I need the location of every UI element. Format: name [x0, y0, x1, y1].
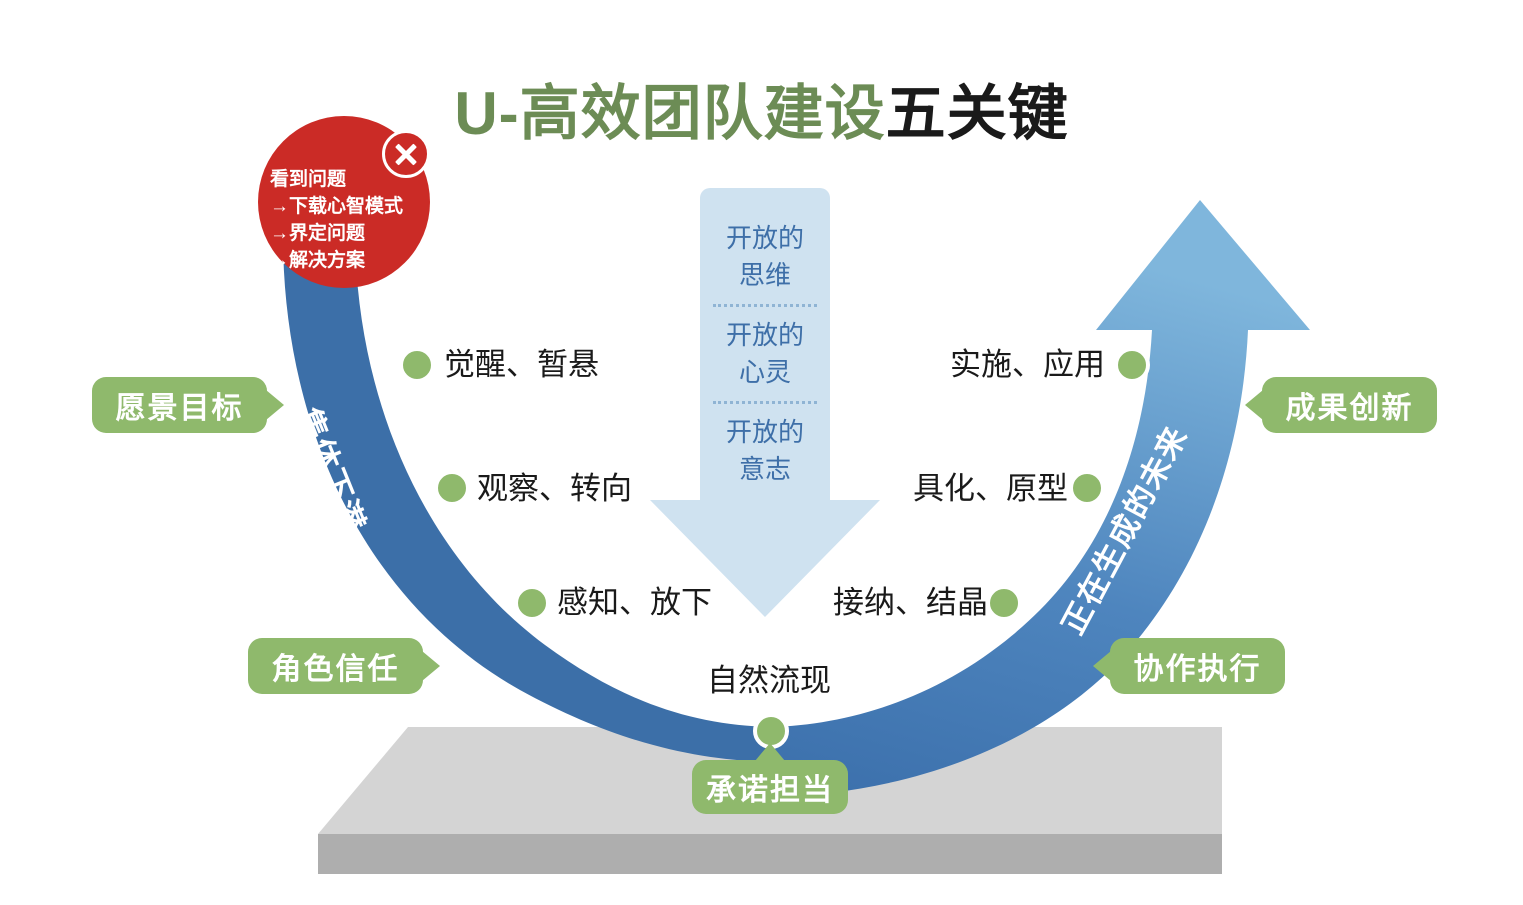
- arrow-seg-1-line-1: 开放的: [700, 220, 830, 257]
- center-arrow-text: 开放的 思维 开放的 心灵 开放的 意志: [700, 218, 830, 494]
- badge-collaboration-label: 协作执行: [1134, 644, 1262, 688]
- badge-commitment[interactable]: 承诺担当: [692, 760, 848, 814]
- arrow-seg-2-line-1: 开放的: [700, 317, 830, 354]
- badge-collaboration[interactable]: 协作执行: [1110, 638, 1285, 694]
- stage-dot-left-3[interactable]: [514, 585, 550, 621]
- badge-innovation[interactable]: 成果创新: [1262, 377, 1437, 433]
- arrow-seg-3-line-1: 开放的: [700, 414, 830, 451]
- arrow-seg-2-line-2: 心灵: [700, 354, 830, 391]
- notch-right-icon: [422, 651, 440, 681]
- stage-dot-right-3[interactable]: [986, 585, 1022, 621]
- notch-up-icon: [755, 743, 785, 761]
- stage-label-right-2: 具化、原型: [913, 473, 1068, 504]
- problem-line-2: →下载心智模式: [270, 193, 434, 220]
- problem-line-4: →解决方案: [270, 247, 434, 274]
- arrow-segment-1: 开放的 思维: [700, 218, 830, 300]
- badge-vision-goal-label: 愿景目标: [116, 383, 244, 427]
- x-close-icon: [382, 130, 430, 178]
- stage-label-right-3: 接纳、结晶: [833, 587, 988, 618]
- arrow-segment-2: 开放的 心灵: [700, 315, 830, 397]
- stage-dot-left-2[interactable]: [434, 470, 470, 506]
- arrow-seg-3-line-2: 意志: [700, 451, 830, 488]
- arrow-divider-2: [713, 401, 817, 404]
- badge-role-trust-label: 角色信任: [272, 644, 400, 688]
- stage-label-left-1: 觉醒、暂悬: [444, 349, 599, 380]
- problem-line-3: →界定问题: [270, 220, 434, 247]
- badge-commitment-label: 承诺担当: [706, 765, 834, 809]
- notch-left-icon: [1093, 651, 1111, 681]
- arrow-divider-1: [713, 304, 817, 307]
- badge-innovation-label: 成果创新: [1286, 383, 1414, 427]
- page-title: U-高效团队建设五关键: [0, 84, 1523, 144]
- problem-circle-text: 看到问题 →下载心智模式 →界定问题 →解决方案: [262, 166, 434, 274]
- arrow-seg-1-line-2: 思维: [700, 257, 830, 294]
- title-black-part: 五关键: [886, 80, 1069, 147]
- stage-dot-right-2[interactable]: [1069, 470, 1105, 506]
- stage-label-bottom: 自然流现: [707, 665, 831, 696]
- stage-label-right-1: 实施、应用: [950, 349, 1105, 380]
- notch-left-icon: [1245, 390, 1263, 420]
- stage-dot-left-1[interactable]: [399, 347, 435, 383]
- badge-role-trust[interactable]: 角色信任: [248, 638, 423, 694]
- arrow-segment-3: 开放的 意志: [700, 412, 830, 494]
- stage-label-left-3: 感知、放下: [557, 587, 712, 618]
- notch-right-icon: [266, 390, 284, 420]
- diagram-canvas: U-高效团队建设五关键 看到问题 →下载心智模式 →界定问题 →解决方案 集体下…: [0, 0, 1523, 905]
- platform-front-face: [318, 834, 1222, 874]
- title-green-part: U-高效团队建设: [454, 80, 885, 147]
- stage-dot-right-1[interactable]: [1114, 347, 1150, 383]
- badge-vision-goal[interactable]: 愿景目标: [92, 377, 267, 433]
- stage-label-left-2: 观察、转向: [477, 473, 632, 504]
